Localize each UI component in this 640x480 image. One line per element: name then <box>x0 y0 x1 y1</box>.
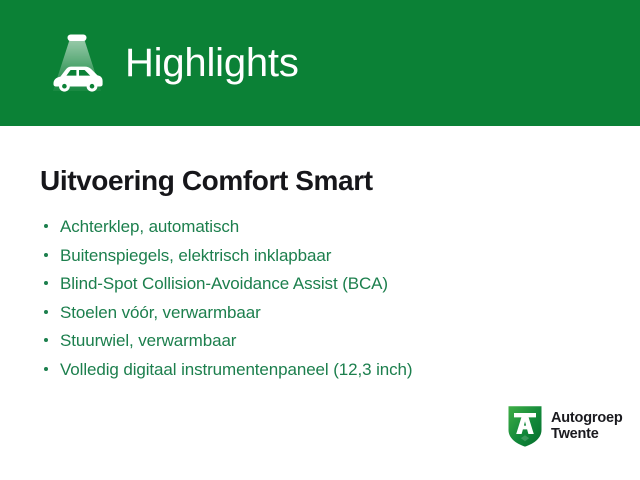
list-item: Achterklep, automatisch <box>44 213 412 242</box>
header-banner: Highlights <box>0 0 640 126</box>
highlights-slide: Highlights Uitvoering Comfort Smart Acht… <box>0 0 640 480</box>
bullet-icon <box>44 338 48 342</box>
section-heading: Uitvoering Comfort Smart <box>40 166 373 197</box>
list-item-label: Blind-Spot Collision-Avoidance Assist (B… <box>60 270 388 299</box>
autogroep-twente-shield-icon <box>507 404 543 448</box>
list-item-label: Buitenspiegels, elektrisch inklapbaar <box>60 242 331 271</box>
list-item-label: Stoelen vóór, verwarmbaar <box>60 299 261 328</box>
list-item-label: Stuurwiel, verwarmbaar <box>60 327 236 356</box>
logo-line-1: Autogroep <box>551 410 623 426</box>
bullet-icon <box>44 253 48 257</box>
logo-wordmark: Autogroep Twente <box>551 410 623 442</box>
list-item: Blind-Spot Collision-Avoidance Assist (B… <box>44 270 412 299</box>
list-item-label: Volledig digitaal instrumentenpaneel (12… <box>60 356 412 385</box>
list-item: Stoelen vóór, verwarmbaar <box>44 299 412 328</box>
page-title: Highlights <box>125 43 299 83</box>
bullet-icon <box>44 281 48 285</box>
brand-logo: Autogroep Twente <box>507 404 623 448</box>
list-item: Volledig digitaal instrumentenpaneel (12… <box>44 356 412 385</box>
car-spotlight-icon <box>44 29 110 99</box>
bullet-icon <box>44 367 48 371</box>
bullet-icon <box>44 224 48 228</box>
list-item: Stuurwiel, verwarmbaar <box>44 327 412 356</box>
feature-list: Achterklep, automatisch Buitenspiegels, … <box>44 213 412 385</box>
logo-line-2: Twente <box>551 426 623 442</box>
list-item: Buitenspiegels, elektrisch inklapbaar <box>44 242 412 271</box>
list-item-label: Achterklep, automatisch <box>60 213 239 242</box>
bullet-icon <box>44 310 48 314</box>
